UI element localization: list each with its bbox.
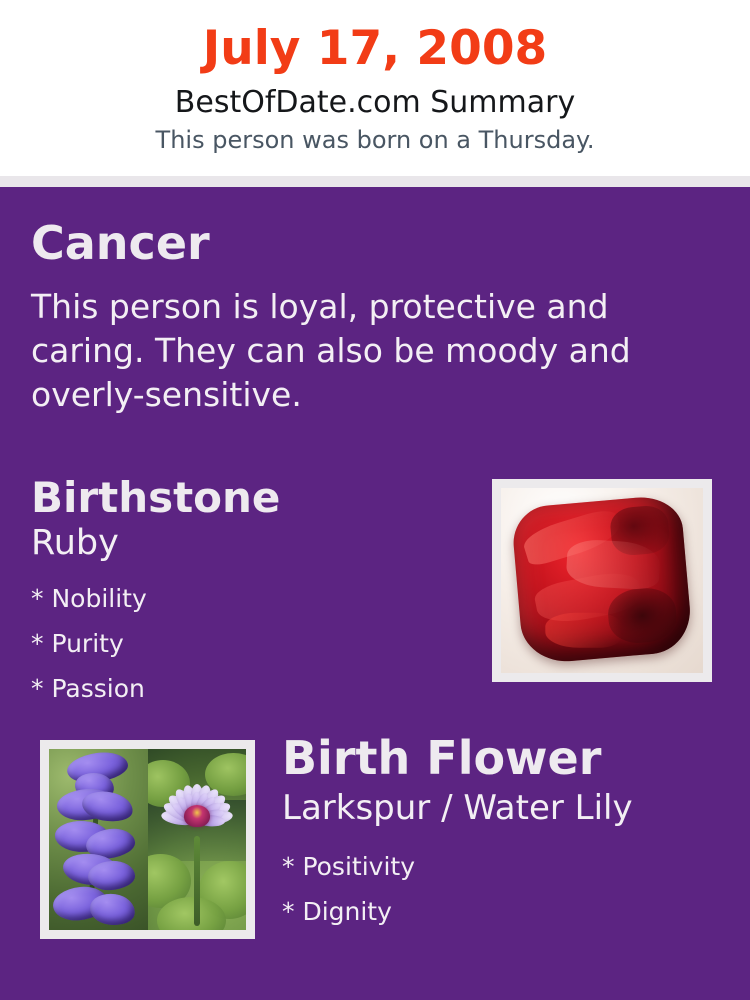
ruby-facet bbox=[545, 613, 621, 648]
birthflower-image-frame bbox=[40, 740, 255, 939]
birthstone-trait-list: * Nobility * Purity * Passion bbox=[31, 576, 451, 711]
birthstone-image bbox=[501, 488, 703, 673]
list-item: * Nobility bbox=[31, 576, 451, 621]
page-title-date: July 17, 2008 bbox=[0, 24, 750, 73]
ruby-crystal-icon bbox=[511, 494, 694, 665]
card-header: July 17, 2008 BestOfDate.com Summary Thi… bbox=[0, 0, 750, 176]
stem-icon bbox=[194, 836, 200, 927]
header-divider bbox=[0, 176, 750, 187]
details-panel: Cancer This person is loyal, protective … bbox=[0, 187, 750, 1000]
zodiac-description: This person is loyal, protective and car… bbox=[31, 285, 651, 417]
zodiac-sign-title: Cancer bbox=[31, 220, 210, 266]
birthflower-name: Larkspur / Water Lily bbox=[282, 791, 633, 825]
list-item: * Positivity bbox=[282, 844, 712, 889]
site-name-subtitle: BestOfDate.com Summary bbox=[0, 86, 750, 119]
day-of-week-note: This person was born on a Thursday. bbox=[0, 127, 750, 153]
bestofdate-summary-card: July 17, 2008 BestOfDate.com Summary Thi… bbox=[0, 0, 750, 1000]
lily-center bbox=[184, 805, 210, 827]
birthstone-name: Ruby bbox=[31, 526, 119, 561]
list-item: * Passion bbox=[31, 666, 451, 711]
larkspur-photo bbox=[49, 749, 148, 930]
birthstone-heading: Birthstone bbox=[31, 477, 280, 519]
list-item: * Dignity bbox=[282, 889, 712, 934]
birthflower-heading: Birth Flower bbox=[282, 735, 601, 781]
water-lily-photo bbox=[148, 749, 247, 930]
list-item: * Purity bbox=[31, 621, 451, 666]
birthflower-trait-list: * Positivity * Dignity bbox=[282, 844, 712, 934]
birthstone-image-frame bbox=[492, 479, 712, 682]
birthflower-image bbox=[49, 749, 246, 930]
flower-split-photo bbox=[49, 749, 246, 930]
